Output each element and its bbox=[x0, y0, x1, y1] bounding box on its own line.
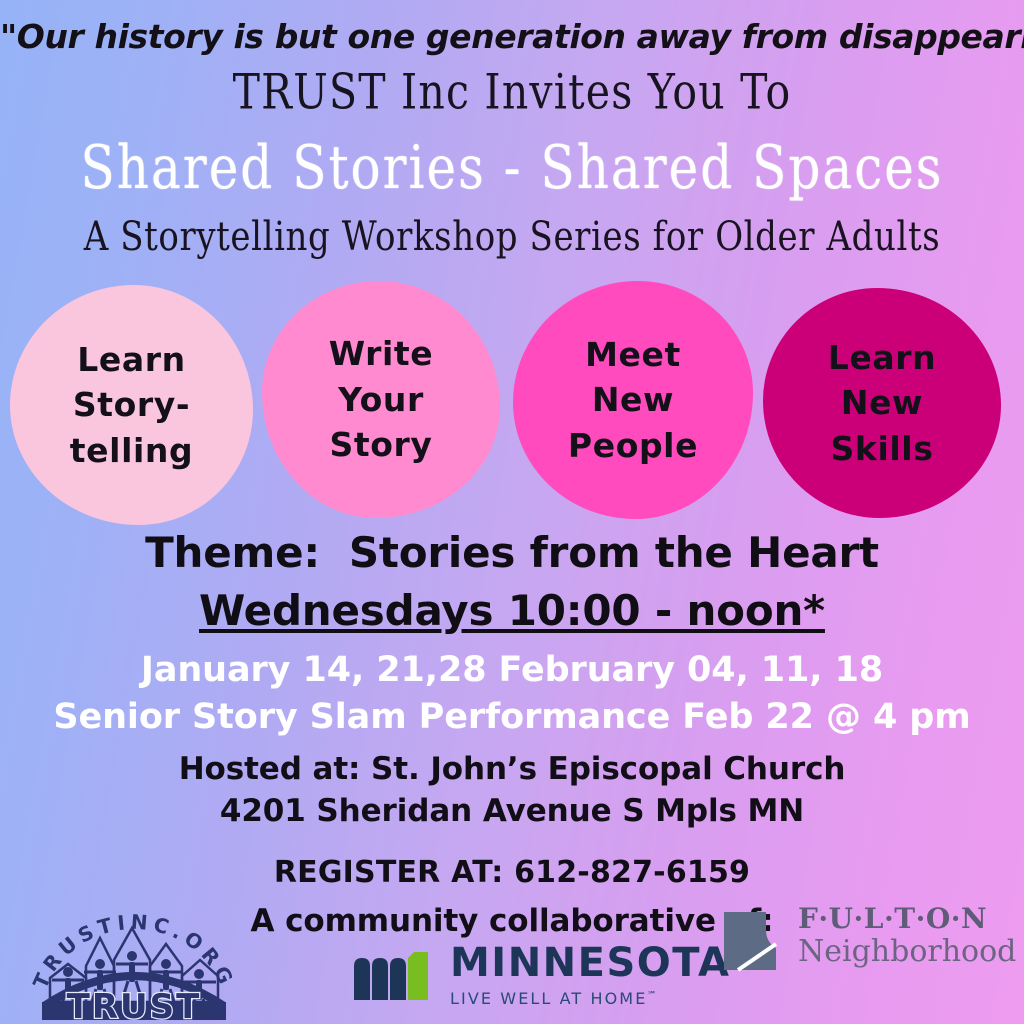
minnesota-wordmark: MINNESOTA LIVE WELL AT HOME℠ bbox=[450, 943, 730, 1007]
service-mark-icon: ℠ bbox=[647, 991, 656, 1001]
benefit-circle-learn-new-skills: Learn New Skills bbox=[763, 288, 1001, 518]
minnesota-tagline: LIVE WELL AT HOME℠ bbox=[450, 991, 730, 1007]
benefit-circle-write-your-story: Write Your Story bbox=[262, 281, 500, 518]
register-text[interactable]: REGISTER AT: 612-827-6159 bbox=[0, 855, 1024, 891]
poster-subtitle: A Storytelling Workshop Series for Older… bbox=[0, 216, 1024, 260]
fulton-wordmark: F·U·L·T·O·N Neighborhood bbox=[798, 904, 1016, 968]
venue-text: Hosted at: St. John’s Episcopal Church bbox=[0, 750, 1024, 789]
address-text: 4201 Sheridan Avenue S Mpls MN bbox=[0, 792, 1024, 831]
minnesota-name: MINNESOTA bbox=[450, 943, 730, 983]
benefit-circle-learn-storytelling: Learn Story- telling bbox=[10, 285, 253, 525]
benefit-label: Meet New People bbox=[568, 332, 698, 469]
poster-title: Shared Stories - Shared Spaces bbox=[0, 135, 1024, 201]
partner-logos: TRUSTINC.ORG bbox=[0, 890, 1024, 1024]
event-details: Theme: Stories from the Heart Wednesdays… bbox=[0, 528, 1024, 940]
headline-block: "Our history is but one generation away … bbox=[0, 18, 1024, 253]
benefit-label: Write Your Story bbox=[329, 331, 434, 468]
minnesota-logo: MINNESOTA LIVE WELL AT HOME℠ bbox=[352, 938, 682, 1012]
performance-text: Senior Story Slam Performance Feb 22 @ 4… bbox=[0, 696, 1024, 739]
theme-text: Theme: Stories from the Heart bbox=[0, 528, 1024, 578]
trust-bridge-icon: TRUSTINC.ORG bbox=[28, 894, 240, 1022]
fulton-map-icon bbox=[722, 910, 784, 972]
invite-text: TRUST Inc Invites You To bbox=[0, 66, 1024, 119]
dates-text: January 14, 21,28 February 04, 11, 18 bbox=[0, 649, 1024, 692]
fulton-name: F·U·L·T·O·N bbox=[798, 904, 1016, 933]
event-poster: "Our history is but one generation away … bbox=[0, 0, 1024, 1024]
fulton-sub: Neighborhood bbox=[798, 935, 1016, 968]
trust-logo: TRUSTINC.ORG bbox=[28, 894, 240, 1022]
fulton-logo: F·U·L·T·O·N Neighborhood bbox=[722, 904, 1012, 1004]
benefit-label: Learn Story- telling bbox=[70, 337, 193, 474]
schedule-text: Wednesdays 10:00 - noon* bbox=[0, 586, 1024, 636]
benefit-circle-meet-new-people: Meet New People bbox=[513, 281, 753, 519]
quote-text: "Our history is but one generation away … bbox=[0, 18, 1024, 56]
trust-wordmark: TRUST bbox=[67, 987, 202, 1022]
benefit-circles: Learn Story- telling Write Your Story Me… bbox=[0, 281, 1024, 526]
benefit-label: Learn New Skills bbox=[828, 335, 936, 472]
minnesota-tagline-text: LIVE WELL AT HOME bbox=[450, 989, 647, 1008]
minnesota-m-icon bbox=[352, 950, 434, 1000]
